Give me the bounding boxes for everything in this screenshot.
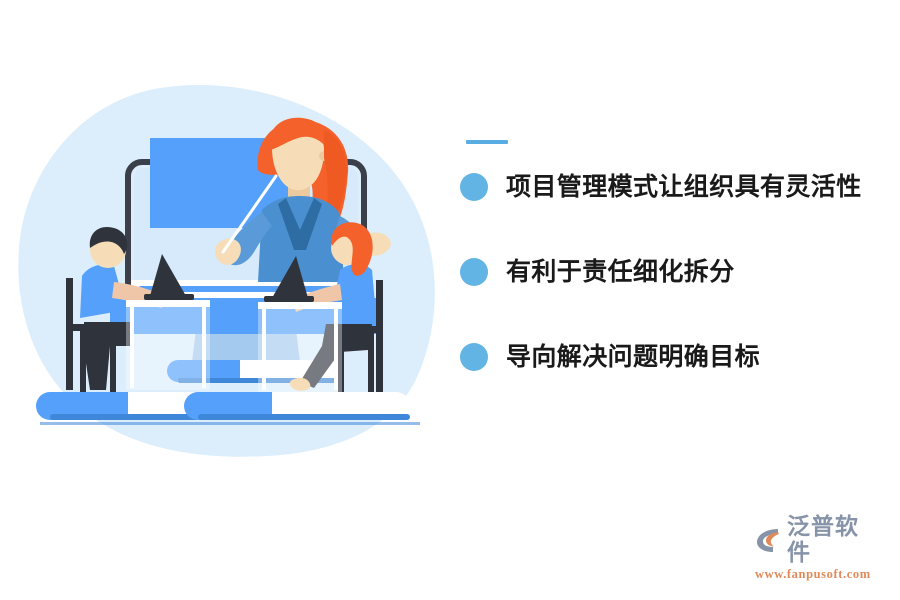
brand-logo[interactable]: 泛普软件 www.fanpusoft.com [754,514,882,582]
bullet-list: 项目管理模式让组织具有灵活性 有利于责任细化拆分 导向解决问题明确目标 [460,130,900,372]
bullet-dot-icon [460,343,488,371]
floor-line [40,422,420,425]
bullet-dot-icon [460,258,488,286]
desk-left [126,300,210,390]
logo-brand-name: 泛普软件 [787,514,882,566]
logo-url: www.fanpusoft.com [755,567,871,582]
online-classroom-illustration [10,70,450,470]
book-bottom-b-edge [198,414,410,420]
list-item[interactable]: 有利于责任细化拆分 [460,257,900,287]
bullet-dot-icon [460,173,488,201]
bullet-label-3: 导向解决问题明确目标 [506,342,760,372]
bullet-label-2: 有利于责任细化拆分 [506,257,735,287]
list-item[interactable]: 项目管理模式让组织具有灵活性 [460,172,900,202]
illustration-svg [10,70,450,470]
list-item[interactable]: 导向解决问题明确目标 [460,342,900,372]
bullet-label-1: 项目管理模式让组织具有灵活性 [506,172,862,202]
fanpu-swoosh-logo-icon [754,525,784,555]
accent-rule [466,140,508,144]
slide-canvas: 项目管理模式让组织具有灵活性 有利于责任细化拆分 导向解决问题明确目标 泛普软件… [0,0,900,600]
logo-top-row: 泛普软件 [754,514,882,566]
